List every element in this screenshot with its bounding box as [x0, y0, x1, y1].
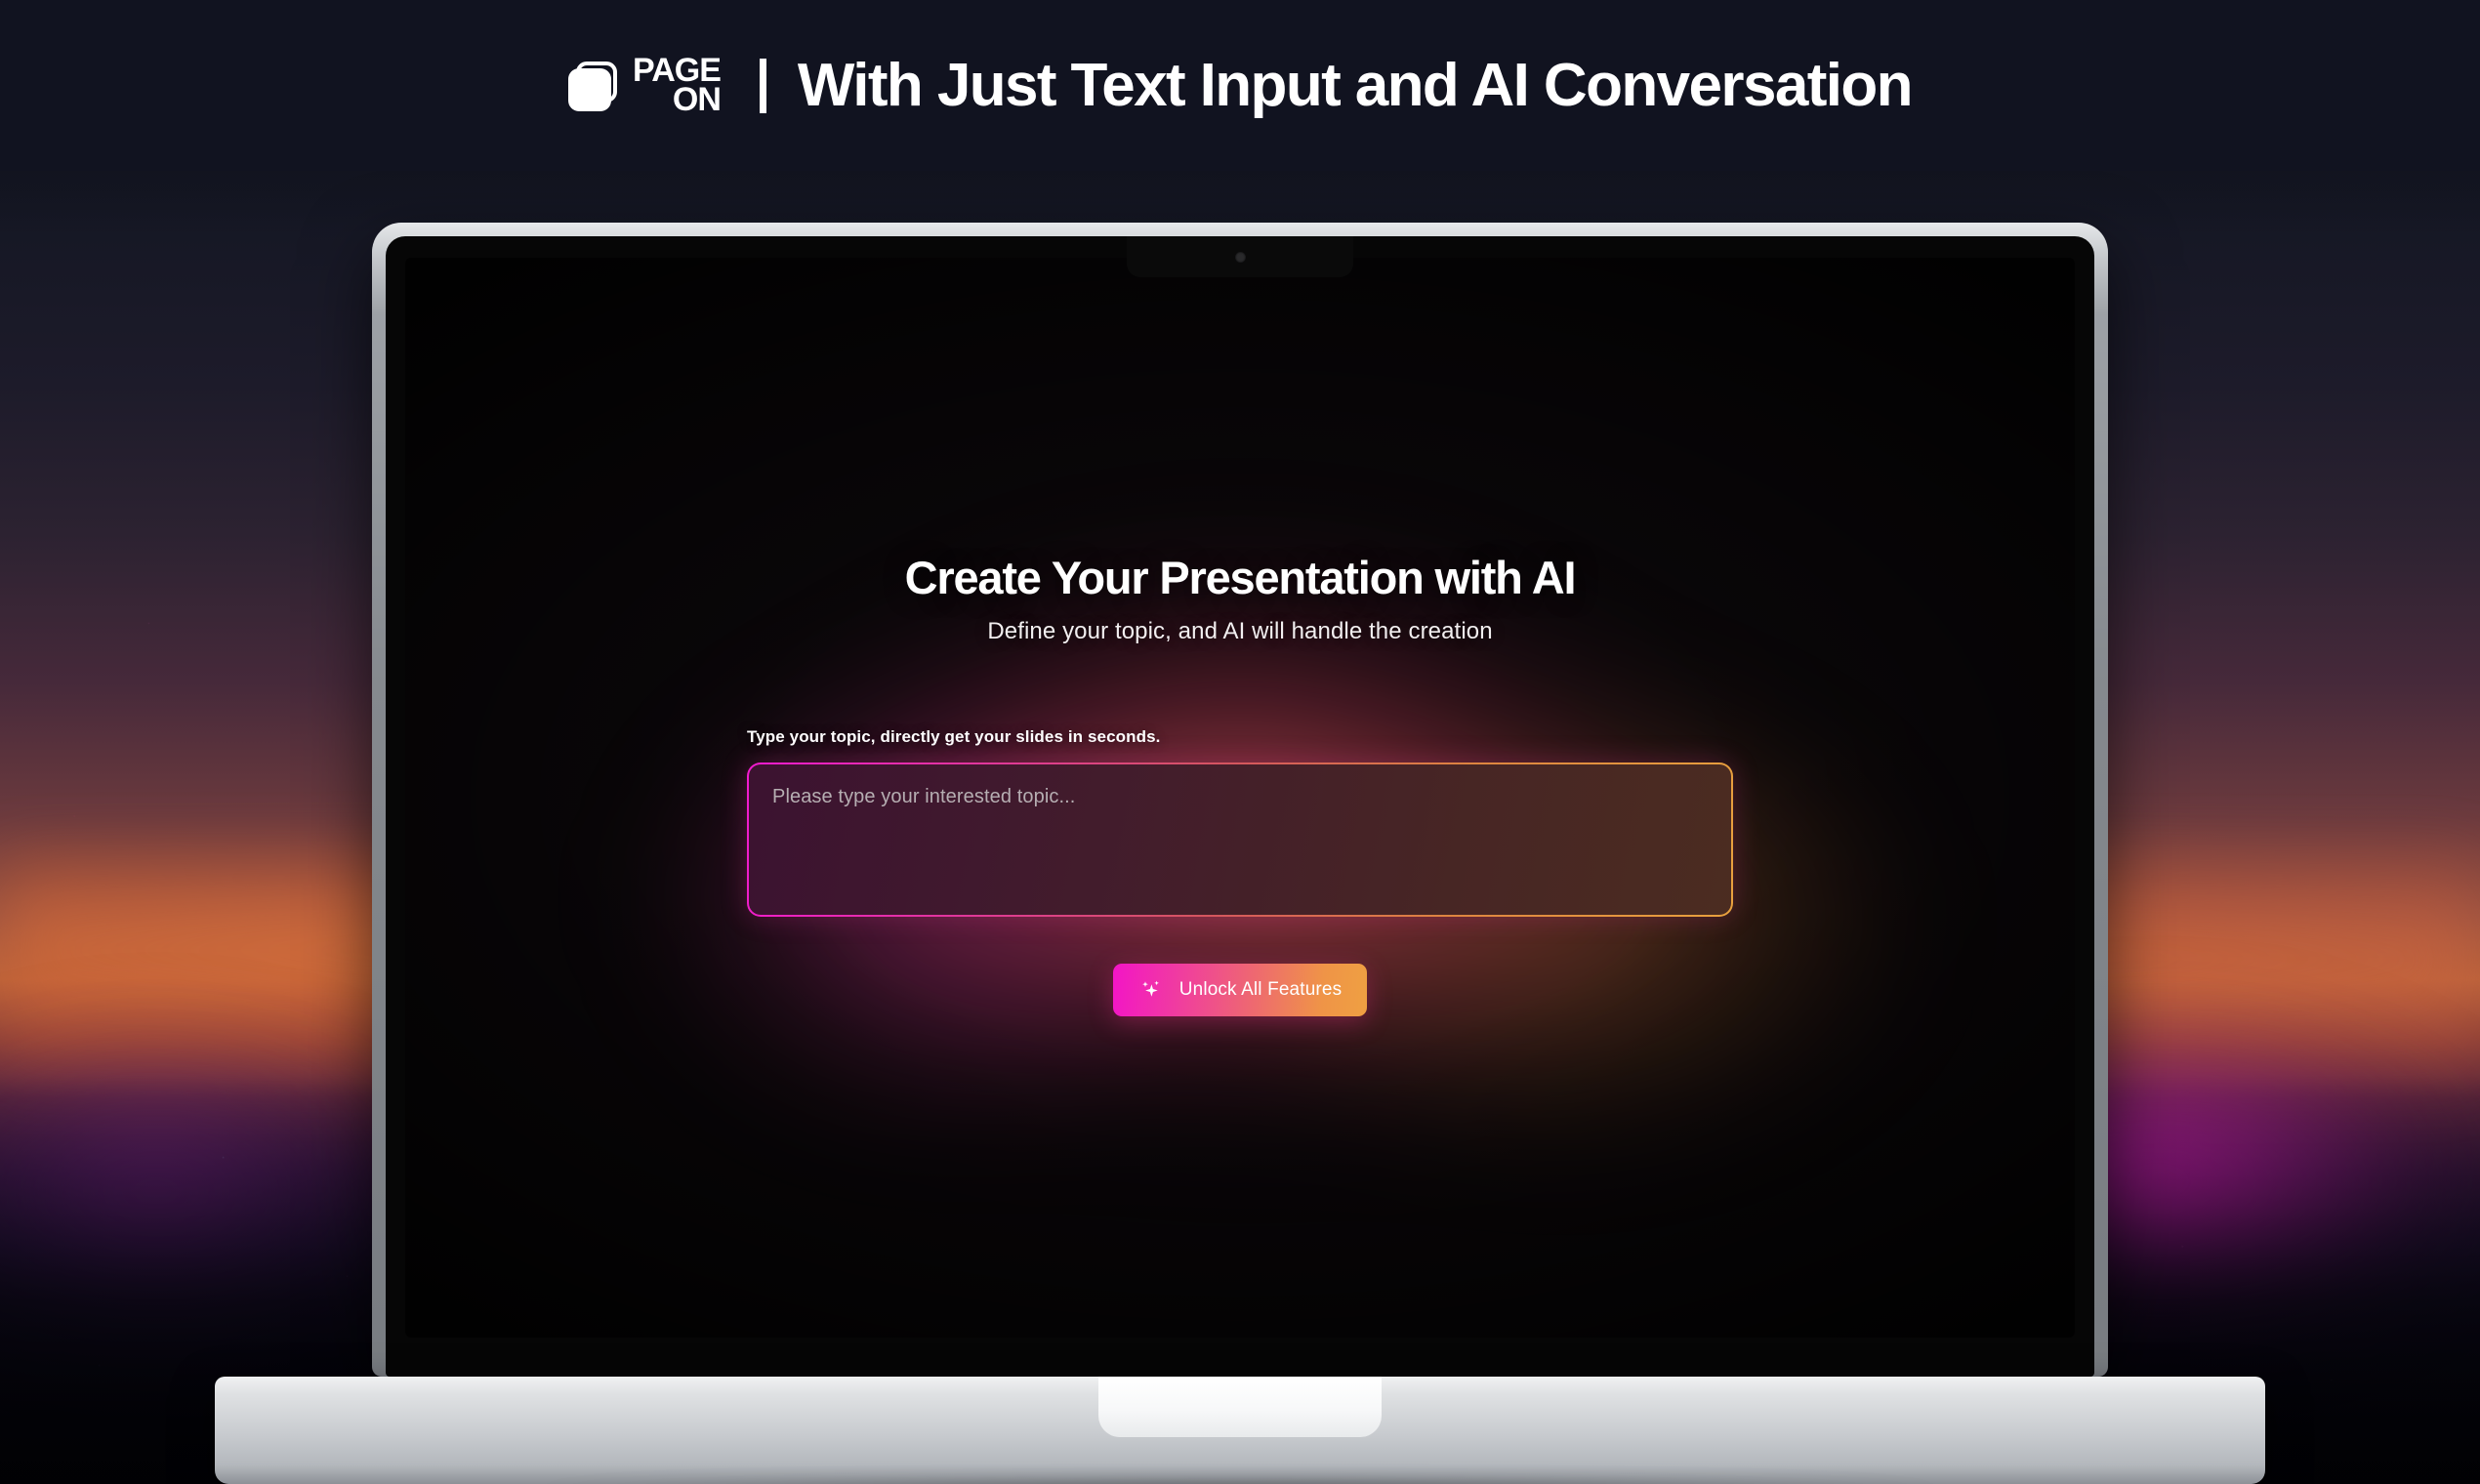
app-content: Create Your Presentation with AI Define … [405, 258, 2075, 1338]
topic-form: Type your topic, directly get your slide… [747, 727, 1733, 917]
promo-scene: PAGE ON With Just Text Input and AI Conv… [0, 0, 2480, 1484]
brand-wordmark-line2: ON [633, 86, 721, 114]
logo-solid-square [568, 68, 611, 111]
promo-header: PAGE ON With Just Text Input and AI Conv… [0, 0, 2480, 171]
laptop-lid: Create Your Presentation with AI Define … [372, 223, 2108, 1377]
brand-wordmark: PAGE ON [633, 57, 721, 113]
topic-input[interactable]: Please type your interested topic... [747, 763, 1733, 917]
page-title: Create Your Presentation with AI [905, 551, 1576, 604]
header-divider [760, 59, 766, 113]
laptop-screen: Create Your Presentation with AI Define … [405, 258, 2075, 1338]
page-on-logo-icon [568, 61, 619, 111]
topic-input-inner[interactable]: Please type your interested topic... [749, 764, 1731, 915]
laptop-base [215, 1377, 2265, 1484]
page-subtitle: Define your topic, and AI will handle th… [987, 618, 1492, 645]
topic-field-label: Type your topic, directly get your slide… [747, 727, 1733, 747]
laptop-base-wrap [215, 1377, 2265, 1484]
laptop-bezel: Create Your Presentation with AI Define … [386, 236, 2094, 1377]
unlock-all-features-label: Unlock All Features [1179, 979, 1343, 1001]
sparkle-icon [1138, 977, 1164, 1003]
laptop-base-notch [1098, 1377, 1382, 1437]
topic-input-placeholder: Please type your interested topic... [772, 786, 1075, 807]
laptop-base-shadow [283, 1478, 2197, 1484]
brand-logo[interactable]: PAGE ON [568, 57, 721, 113]
camera-dot-icon [1235, 252, 1246, 263]
laptop-notch [1127, 236, 1353, 277]
header-headline: With Just Text Input and AI Conversation [798, 51, 1912, 120]
unlock-all-features-button[interactable]: Unlock All Features [1113, 964, 1368, 1016]
header-inner: PAGE ON With Just Text Input and AI Conv… [568, 51, 1912, 120]
laptop-mockup: Create Your Presentation with AI Define … [372, 223, 2108, 1377]
cta-row: Unlock All Features [747, 964, 1733, 1016]
